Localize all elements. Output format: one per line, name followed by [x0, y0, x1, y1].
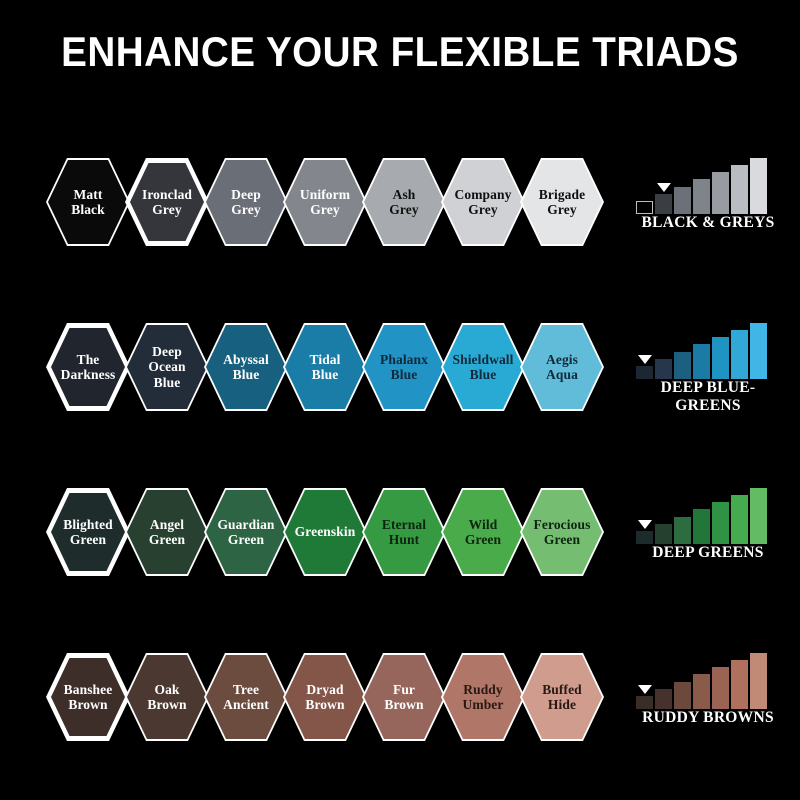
- color-name-label: BrigadeGrey: [520, 158, 604, 246]
- color-name-line: Greenskin: [295, 524, 356, 539]
- color-swatch-hexagon[interactable]: BuffedHide: [520, 653, 604, 741]
- gradient-bars: [636, 486, 776, 544]
- color-swatch-hexagon[interactable]: TidalBlue: [283, 323, 367, 411]
- color-name-label: FerociousGreen: [520, 488, 604, 576]
- color-name-line: Buffed: [542, 682, 582, 697]
- color-name-line: Fur: [393, 682, 415, 697]
- range-legend: BLACK & GREYS: [628, 148, 788, 268]
- color-swatch-hexagon[interactable]: IroncladGrey: [125, 158, 209, 246]
- color-name-line: Oak: [154, 682, 179, 697]
- gradient-bar: [750, 653, 767, 709]
- color-swatch-hexagon[interactable]: PhalanxBlue: [362, 323, 446, 411]
- gradient-bar: [693, 179, 710, 214]
- gradient-bar: [731, 495, 748, 544]
- color-name-label: TreeAncient: [204, 653, 288, 741]
- color-name-label: BuffedHide: [520, 653, 604, 741]
- gradient-bar: [655, 359, 672, 379]
- range-label: BLACK & GREYS: [628, 214, 788, 232]
- color-name-label: BlightedGreen: [46, 488, 130, 576]
- hex-strip: TheDarknessDeepOceanBlueAbyssalBlueTidal…: [46, 313, 616, 421]
- color-name-line: The: [77, 352, 100, 367]
- color-name-line: Blue: [312, 367, 339, 382]
- color-swatch-hexagon[interactable]: WildGreen: [441, 488, 525, 576]
- color-name-line: Brown: [68, 697, 107, 712]
- color-name-line: Green: [149, 532, 185, 547]
- color-name-line: Matt: [74, 187, 103, 202]
- color-name-label: PhalanxBlue: [362, 323, 446, 411]
- color-name-line: Company: [455, 187, 512, 202]
- color-swatch-hexagon[interactable]: AbyssalBlue: [204, 323, 288, 411]
- color-name-line: Dryad: [306, 682, 343, 697]
- color-name-label: DryadBrown: [283, 653, 367, 741]
- color-name-line: Green: [70, 532, 106, 547]
- gradient-bar: [655, 689, 672, 709]
- color-swatch-hexagon[interactable]: AegisAqua: [520, 323, 604, 411]
- palette-rows: MattBlackIroncladGreyDeepGreyUniformGrey…: [0, 0, 800, 800]
- color-name-label: AegisAqua: [520, 323, 604, 411]
- gradient-bar: [636, 201, 653, 214]
- gradient-bar: [674, 517, 691, 544]
- color-swatch-hexagon[interactable]: RuddyUmber: [441, 653, 525, 741]
- color-name-line: Phalanx: [380, 352, 428, 367]
- color-name-label: AngelGreen: [125, 488, 209, 576]
- color-name-label: DeepGrey: [204, 158, 288, 246]
- color-name-line: Ocean: [148, 359, 185, 374]
- color-swatch-hexagon[interactable]: BansheeBrown: [46, 653, 130, 741]
- gradient-bar: [636, 696, 653, 709]
- position-marker-icon: [638, 355, 652, 364]
- color-name-line: Ferocious: [534, 517, 591, 532]
- color-name-label: AshGrey: [362, 158, 446, 246]
- color-name-line: Ash: [393, 187, 416, 202]
- color-name-line: Grey: [152, 202, 181, 217]
- color-name-line: Blue: [391, 367, 418, 382]
- color-name-line: Deep: [152, 344, 182, 359]
- color-swatch-hexagon[interactable]: FurBrown: [362, 653, 446, 741]
- color-swatch-hexagon[interactable]: DeepOceanBlue: [125, 323, 209, 411]
- gradient-bar: [693, 509, 710, 544]
- color-name-label: DeepOceanBlue: [125, 323, 209, 411]
- color-name-line: Ironclad: [142, 187, 192, 202]
- range-legend: DEEP GREENS: [628, 478, 788, 598]
- range-label: DEEP GREENS: [628, 544, 788, 562]
- gradient-bar: [655, 194, 672, 214]
- palette-row: BansheeBrownOakBrownTreeAncientDryadBrow…: [0, 643, 800, 763]
- gradient-bars: [636, 321, 776, 379]
- color-name-line: Tidal: [309, 352, 340, 367]
- color-name-line: Blue: [154, 375, 181, 390]
- hex-strip: BlightedGreenAngelGreenGuardianGreenGree…: [46, 478, 616, 586]
- gradient-bar: [712, 667, 729, 709]
- gradient-bar: [636, 366, 653, 379]
- color-name-label: RuddyUmber: [441, 653, 525, 741]
- color-name-line: Deep: [231, 187, 261, 202]
- color-swatch-hexagon[interactable]: EternalHunt: [362, 488, 446, 576]
- color-name-line: Brigade: [539, 187, 585, 202]
- gradient-bar: [693, 674, 710, 709]
- color-name-line: Ruddy: [463, 682, 503, 697]
- hex-strip: MattBlackIroncladGreyDeepGreyUniformGrey…: [46, 148, 616, 256]
- color-name-line: Darkness: [61, 367, 116, 382]
- color-name-line: Aqua: [546, 367, 578, 382]
- gradient-bar: [750, 158, 767, 214]
- color-name-line: Aegis: [546, 352, 578, 367]
- color-swatch-hexagon[interactable]: AngelGreen: [125, 488, 209, 576]
- gradient-bar: [655, 524, 672, 544]
- color-name-label: AbyssalBlue: [204, 323, 288, 411]
- color-name-label: TheDarkness: [46, 323, 130, 411]
- color-name-line: Grey: [231, 202, 260, 217]
- palette-row: BlightedGreenAngelGreenGuardianGreenGree…: [0, 478, 800, 598]
- color-swatch-hexagon[interactable]: GuardianGreen: [204, 488, 288, 576]
- palette-row: TheDarknessDeepOceanBlueAbyssalBlueTidal…: [0, 313, 800, 433]
- range-label: DEEP BLUE-GREENS: [628, 379, 788, 416]
- gradient-bar: [750, 323, 767, 379]
- color-name-line: Blighted: [63, 517, 113, 532]
- color-name-label: ShieldwallBlue: [441, 323, 525, 411]
- gradient-bar: [712, 172, 729, 214]
- position-marker-icon: [638, 685, 652, 694]
- color-swatch-hexagon[interactable]: BlightedGreen: [46, 488, 130, 576]
- color-name-line: Grey: [389, 202, 418, 217]
- color-name-label: GuardianGreen: [204, 488, 288, 576]
- color-name-line: Banshee: [64, 682, 113, 697]
- color-swatch-hexagon[interactable]: DryadBrown: [283, 653, 367, 741]
- color-name-line: Eternal: [382, 517, 426, 532]
- color-name-line: Tree: [233, 682, 259, 697]
- color-name-label: TidalBlue: [283, 323, 367, 411]
- position-marker-icon: [638, 520, 652, 529]
- color-name-line: Green: [465, 532, 501, 547]
- color-swatch-hexagon[interactable]: MattBlack: [46, 158, 130, 246]
- gradient-bars: [636, 156, 776, 214]
- color-name-label: EternalHunt: [362, 488, 446, 576]
- range-legend: DEEP BLUE-GREENS: [628, 313, 788, 433]
- color-swatch-hexagon[interactable]: TreeAncient: [204, 653, 288, 741]
- color-swatch-hexagon[interactable]: CompanyGrey: [441, 158, 525, 246]
- color-name-line: Hunt: [389, 532, 419, 547]
- color-name-label: MattBlack: [46, 158, 130, 246]
- color-swatch-hexagon[interactable]: FerociousGreen: [520, 488, 604, 576]
- color-name-line: Blue: [233, 367, 260, 382]
- gradient-bar: [731, 330, 748, 379]
- color-name-label: IroncladGrey: [125, 158, 209, 246]
- color-swatch-hexagon[interactable]: OakBrown: [125, 653, 209, 741]
- gradient-bar: [674, 352, 691, 379]
- color-name-line: Ancient: [223, 697, 269, 712]
- gradient-bars: [636, 651, 776, 709]
- color-name-line: Green: [544, 532, 580, 547]
- color-swatch-hexagon[interactable]: ShieldwallBlue: [441, 323, 525, 411]
- palette-row: MattBlackIroncladGreyDeepGreyUniformGrey…: [0, 148, 800, 268]
- color-name-line: Hide: [548, 697, 576, 712]
- color-swatch-hexagon[interactable]: TheDarkness: [46, 323, 130, 411]
- color-name-line: Blue: [470, 367, 497, 382]
- color-name-line: Uniform: [300, 187, 350, 202]
- color-name-line: Umber: [463, 697, 504, 712]
- color-name-line: Guardian: [217, 517, 274, 532]
- gradient-bar: [712, 502, 729, 544]
- color-name-label: CompanyGrey: [441, 158, 525, 246]
- gradient-bar: [731, 660, 748, 709]
- color-name-line: Abyssal: [223, 352, 269, 367]
- color-name-line: Grey: [547, 202, 576, 217]
- gradient-bar: [712, 337, 729, 379]
- color-name-label: FurBrown: [362, 653, 446, 741]
- color-name-line: Grey: [310, 202, 339, 217]
- color-name-label: OakBrown: [125, 653, 209, 741]
- gradient-bar: [674, 682, 691, 709]
- color-name-line: Brown: [305, 697, 344, 712]
- color-name-label: UniformGrey: [283, 158, 367, 246]
- color-swatch-hexagon[interactable]: AshGrey: [362, 158, 446, 246]
- color-swatch-hexagon[interactable]: Greenskin: [283, 488, 367, 576]
- color-name-line: Brown: [384, 697, 423, 712]
- color-name-label: WildGreen: [441, 488, 525, 576]
- gradient-bar: [636, 531, 653, 544]
- color-name-line: Shieldwall: [452, 352, 513, 367]
- color-name-line: Brown: [147, 697, 186, 712]
- gradient-bar: [731, 165, 748, 214]
- range-legend: RUDDY BROWNS: [628, 643, 788, 763]
- color-swatch-hexagon[interactable]: BrigadeGrey: [520, 158, 604, 246]
- color-swatch-hexagon[interactable]: UniformGrey: [283, 158, 367, 246]
- gradient-bar: [674, 187, 691, 214]
- color-name-line: Green: [228, 532, 264, 547]
- color-name-line: Wild: [469, 517, 498, 532]
- color-swatch-hexagon[interactable]: DeepGrey: [204, 158, 288, 246]
- gradient-bar: [693, 344, 710, 379]
- color-name-label: BansheeBrown: [46, 653, 130, 741]
- color-name-line: Angel: [150, 517, 184, 532]
- color-name-line: Grey: [468, 202, 497, 217]
- color-name-label: Greenskin: [283, 488, 367, 576]
- gradient-bar: [750, 488, 767, 544]
- range-label: RUDDY BROWNS: [628, 709, 788, 727]
- hex-strip: BansheeBrownOakBrownTreeAncientDryadBrow…: [46, 643, 616, 751]
- color-name-line: Black: [71, 202, 105, 217]
- position-marker-icon: [657, 183, 671, 192]
